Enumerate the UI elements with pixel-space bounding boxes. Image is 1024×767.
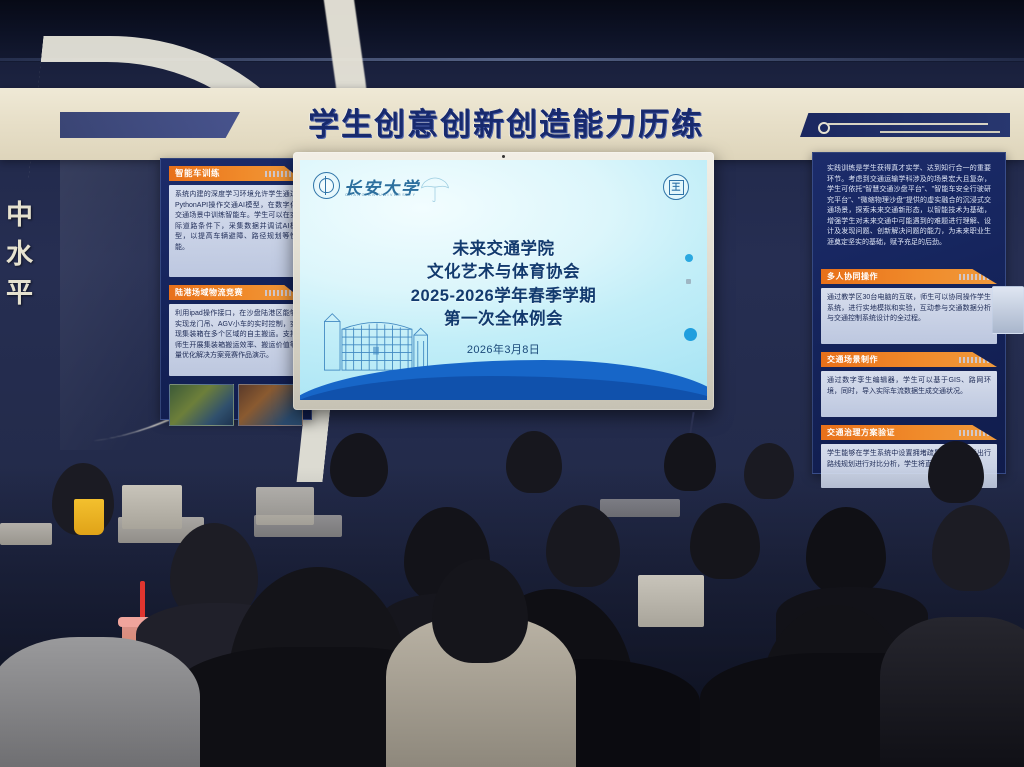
panel-text-collaboration: 通过教学区30台电脑的互联，师生可以协同操作学生系统，进行实地模拟和实验，互动参… [821,288,997,344]
presentation-display[interactable]: 长安大学 CHANG'AN UNIVERSITY 未来交通学院 文化艺术与体育协… [293,152,714,410]
panel-heading-stripes-icon [959,357,993,363]
university-crest-icon [313,172,340,199]
panel-heading-label: 智能车训练 [175,168,220,178]
panel-heading-label: 交通场景制作 [827,355,878,364]
panel-photo-row [169,384,303,426]
university-name-english: CHANG'AN UNIVERSITY [345,193,417,197]
panel-heading-scene-building: 交通场景制作 [821,352,997,367]
panel-heading-stripes-icon [959,430,993,436]
wall-vertical-text: 中 水 平 [6,196,46,313]
exhibit-panel-right: 实践训练是学生获得真才实学、达到知行合一的重要环节。考虑到交通运输学科涉及的场景… [812,152,1006,474]
panel-heading-label: 多人协同操作 [827,272,878,281]
slide-decor-dot-1 [685,254,693,262]
panel-text-intro: 实践训练是学生获得真才实学、达到知行合一的重要环节。考虑到交通运输学科涉及的场景… [821,159,997,261]
wall-char-1: 中 [6,196,46,235]
slide-decor-dot-2 [684,328,697,341]
panel-heading-collaboration: 多人协同操作 [821,269,997,284]
panel-heading-intelligent-vehicle: 智能车训练 [169,166,303,181]
banner-decoration-left [60,112,240,138]
association-seal-icon [663,174,689,200]
slide-title-line-2: 文化艺术与体育协会 [300,261,707,284]
banner-line-2 [880,131,1000,133]
wall-char-2: 水 [6,235,46,274]
exhibit-panel-left: 智能车训练 系统内建的深度学习环境允许学生通过PythonAPI操作交通AI模型… [160,158,312,420]
panel-heading-label: 陆港场域物流竞赛 [175,288,243,297]
panel-heading-label: 交通治理方案验证 [827,428,895,437]
panel-photo-sandtable [169,384,234,426]
room-foreground-shading [0,467,1024,767]
panel-text-logistics: 利用ipad操作接口，在沙盘陆港区能够实现龙门吊、AGV小车的实时控制，实现集装… [169,304,303,376]
banner-decoration-right [800,113,1010,137]
panel-heading-stripes-icon [959,274,993,280]
umbrella-watermark-icon [420,177,450,203]
display-camera-icon [502,155,505,158]
slide-title-line-1: 未来交通学院 [300,238,707,261]
banner-title: 学生创意创新创造能力历练 [308,99,788,144]
presentation-slide: 长安大学 CHANG'AN UNIVERSITY 未来交通学院 文化艺术与体育协… [300,160,707,400]
panel-heading-governance: 交通治理方案验证 [821,425,997,440]
banner-line-1 [828,123,988,125]
wall-char-3: 平 [6,274,46,313]
slide-decor-square [686,279,691,284]
wall-control-screen [992,286,1024,334]
panel-text-scene-building: 通过数字孪生编辑器，学生可以基于GIS、路网环境，同时，导入实际车流数据生成交通… [821,371,997,417]
lecture-hall-photo: 学生创意创新创造能力历练 中 水 平 智能车训练 系统内建的深度学习环境允许学生… [0,0,1024,767]
panel-heading-logistics: 陆港场域物流竞赛 [169,285,303,300]
panel-text-intelligent-vehicle: 系统内建的深度学习环境允许学生通过PythonAPI操作交通AI模型，在数字化交… [169,185,303,277]
campus-building-illustration [322,304,430,374]
